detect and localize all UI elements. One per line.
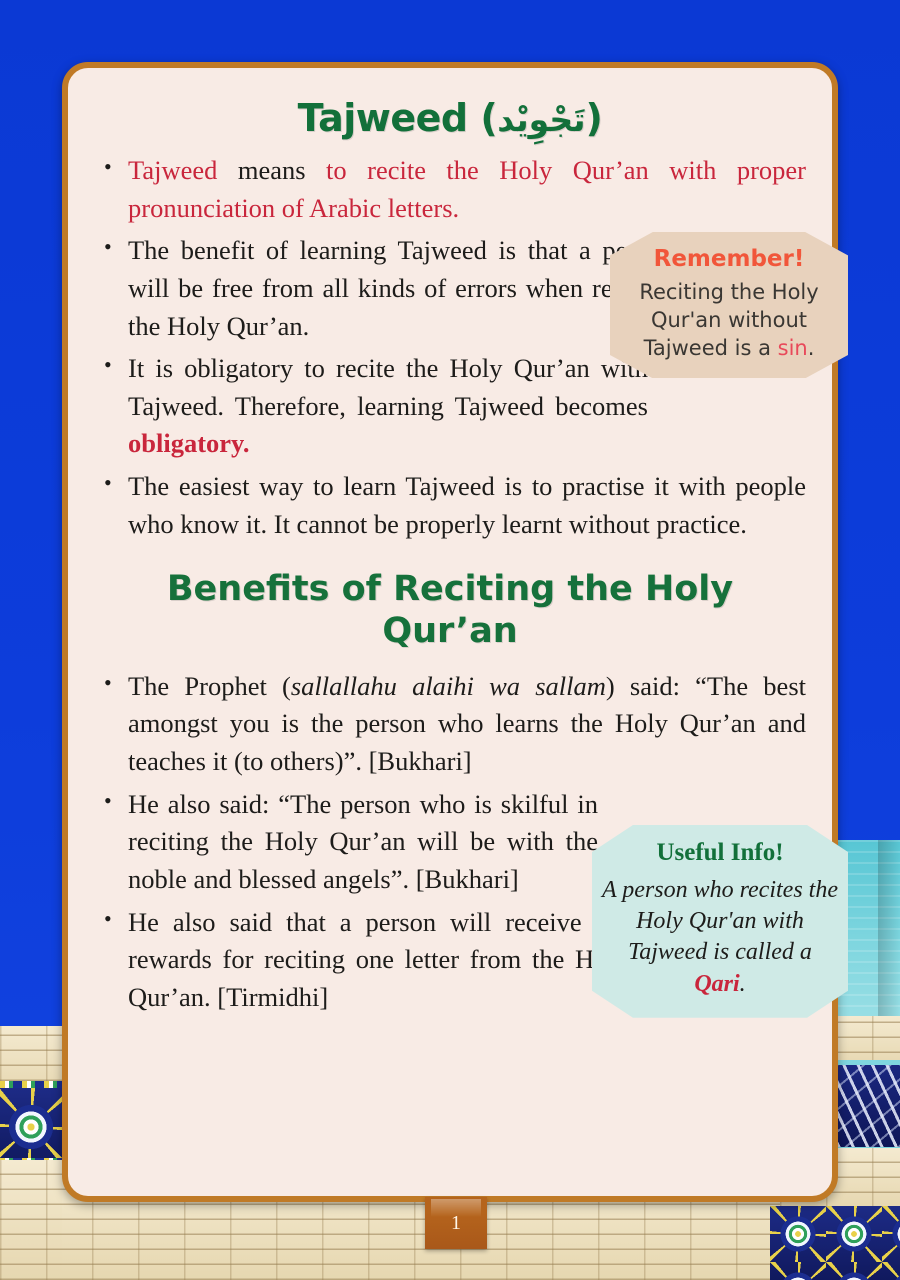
callout-useful-body-tail: . (740, 971, 746, 997)
bullet-text-segment: obligatory. (128, 428, 249, 458)
list-item: He also said that a person will receive … (94, 904, 628, 1017)
background-mosaic-bottom-right (770, 1206, 900, 1280)
list-item: The benefit of learning Tajweed is that … (94, 232, 673, 345)
page-title: Tajweed (تَجْوِيْد) (94, 96, 806, 140)
list-item: The easiest way to learn Tajweed is to p… (94, 468, 806, 543)
background-brick-wall-left-lower (0, 1160, 62, 1280)
callout-useful-heading: Useful Info! (602, 839, 838, 867)
page-number-value: 1 (451, 1212, 461, 1235)
list-item: He also said: “The person who is skilful… (94, 786, 598, 899)
bullet-text-segment: He also said that a person will receive … (128, 907, 628, 1012)
bullet-text-segment: The benefit of learning Tajweed is that … (128, 235, 673, 340)
callout-remember-body: Reciting the Holy Qur'an without Tajweed… (622, 278, 836, 362)
callout-useful-info: Useful Info! A person who recites the Ho… (592, 825, 848, 1018)
callout-useful-body-lead: A person who recites the Holy Qur'an wit… (602, 877, 838, 965)
list-item: The Prophet (sallallahu alaihi wa sallam… (94, 668, 806, 781)
document-page: Tajweed (تَجْوِيْد) Tajweed means to rec… (0, 0, 900, 1280)
list-item: Tajweed means to recite the Holy Qur’an … (94, 152, 806, 227)
bullet-text-segment: The Prophet ( (128, 671, 291, 701)
bullet-text-segment: Tajweed (128, 155, 238, 185)
callout-remember-body-highlight: sin (778, 336, 808, 360)
callout-useful-body: A person who recites the Holy Qur'an wit… (602, 875, 838, 1000)
bullet-text-segment: The easiest way to learn Tajweed is to p… (128, 471, 806, 539)
bullet-text-segment: He also said: “The person who is skilful… (128, 789, 598, 894)
bullet-text-segment: means (238, 155, 326, 185)
background-mosaic-left (0, 1088, 62, 1166)
section-heading: Benefits of Reciting the Holy Qur’an (94, 569, 806, 652)
list-item: It is obligatory to recite the Holy Qur’… (94, 350, 648, 463)
bullet-text-segment: It is obligatory to recite the Holy Qur’… (128, 353, 648, 421)
callout-remember-body-tail: . (808, 336, 815, 360)
bullet-text-segment-italic: sallallahu alaihi wa sallam (291, 671, 606, 701)
page-title-english: Tajweed ( (298, 96, 498, 140)
callout-remember-heading: Remember! (622, 246, 836, 272)
page-title-close: ) (586, 96, 603, 140)
page-title-arabic: تَجْوِيْد (497, 100, 585, 139)
callout-remember: Remember! Reciting the Holy Qur'an witho… (610, 232, 848, 378)
callout-useful-body-highlight: Qari (694, 971, 739, 997)
page-number-badge: 1 (425, 1197, 487, 1249)
